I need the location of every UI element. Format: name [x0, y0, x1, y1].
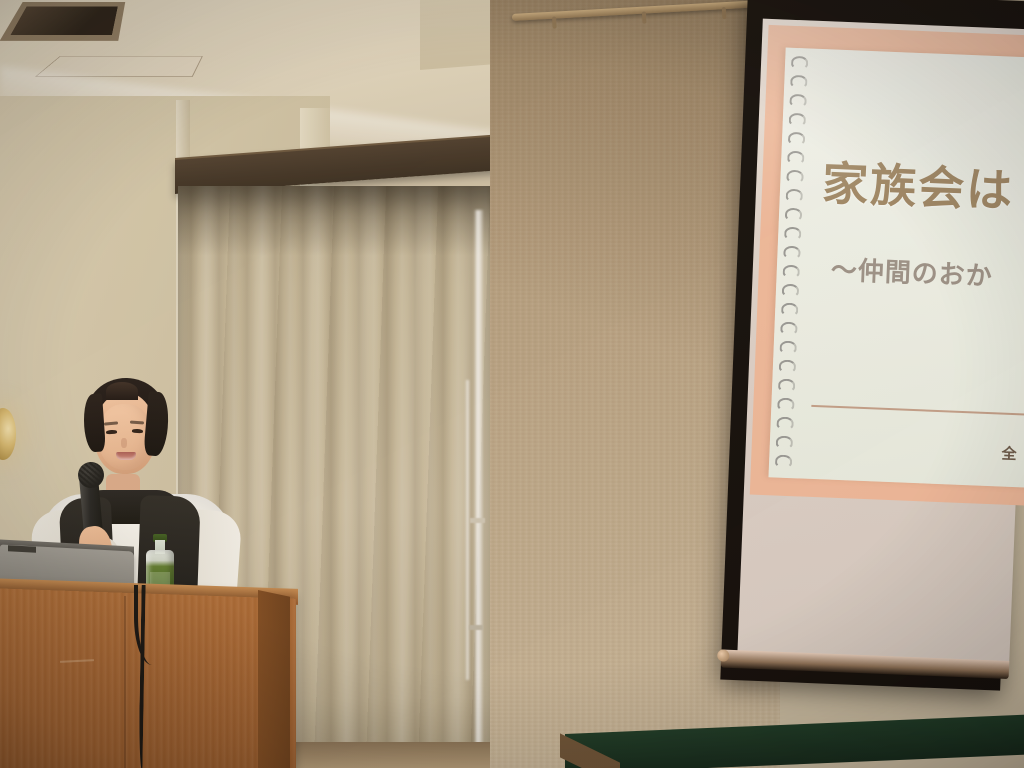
presentation-slide: 家族会は 〜仲間のおか 全 — [750, 25, 1024, 507]
spiral-ring — [778, 379, 796, 393]
spiral-ring — [780, 322, 798, 336]
eye-left — [106, 430, 117, 434]
curtain-clip-lower — [469, 625, 483, 630]
curtain-light-gap-secondary — [465, 380, 470, 680]
slide-title: 家族会は — [821, 147, 1015, 221]
spiral-ring — [789, 113, 807, 127]
spiral-ring — [789, 94, 807, 108]
podium-side-panel — [258, 590, 290, 768]
curtain-top-shadow — [178, 186, 496, 256]
projection-screen: 家族会は 〜仲間のおか 全 — [719, 0, 1024, 721]
spiral-ring — [779, 360, 797, 374]
spiral-ring — [785, 208, 803, 222]
ceiling-vent-icon — [0, 2, 125, 41]
hair-side-right — [143, 391, 170, 457]
spiral-ring — [783, 246, 801, 260]
podium-seam — [124, 596, 126, 768]
spiral-ring — [786, 189, 804, 203]
curtain-light-gap — [474, 210, 483, 755]
photo-scene: 家族会は 〜仲間のおか 全 — [0, 0, 1024, 768]
nose — [121, 438, 127, 448]
spiral-ring — [784, 227, 802, 241]
mouth-smiling — [116, 452, 136, 460]
spiral-ring — [787, 151, 805, 165]
spiral-ring — [776, 435, 794, 449]
spiral-ring — [786, 170, 804, 184]
ceiling-vent-inner — [11, 7, 118, 35]
spiral-ring — [775, 454, 793, 468]
eye-right — [132, 429, 143, 433]
spiral-ring — [790, 75, 808, 89]
slide-subtitle: 〜仲間のおか — [830, 250, 993, 293]
hair-part — [106, 382, 138, 400]
hair-side-left — [82, 393, 106, 452]
spiral-ring — [788, 132, 806, 146]
curtain-clip — [470, 518, 485, 523]
slide-footer-text: 全 — [1001, 443, 1017, 465]
curtain-rod-hook — [642, 12, 647, 24]
spiral-ring — [782, 284, 800, 298]
spiral-ring — [779, 341, 797, 355]
spiral-ring — [781, 303, 799, 317]
spiral-ring — [791, 56, 809, 70]
spiral-ring — [782, 265, 800, 279]
curtain-rod-hook — [552, 17, 557, 29]
curtain-rod-hook — [722, 7, 727, 19]
spiral-ring — [777, 398, 795, 412]
spiral-ring — [776, 417, 794, 431]
